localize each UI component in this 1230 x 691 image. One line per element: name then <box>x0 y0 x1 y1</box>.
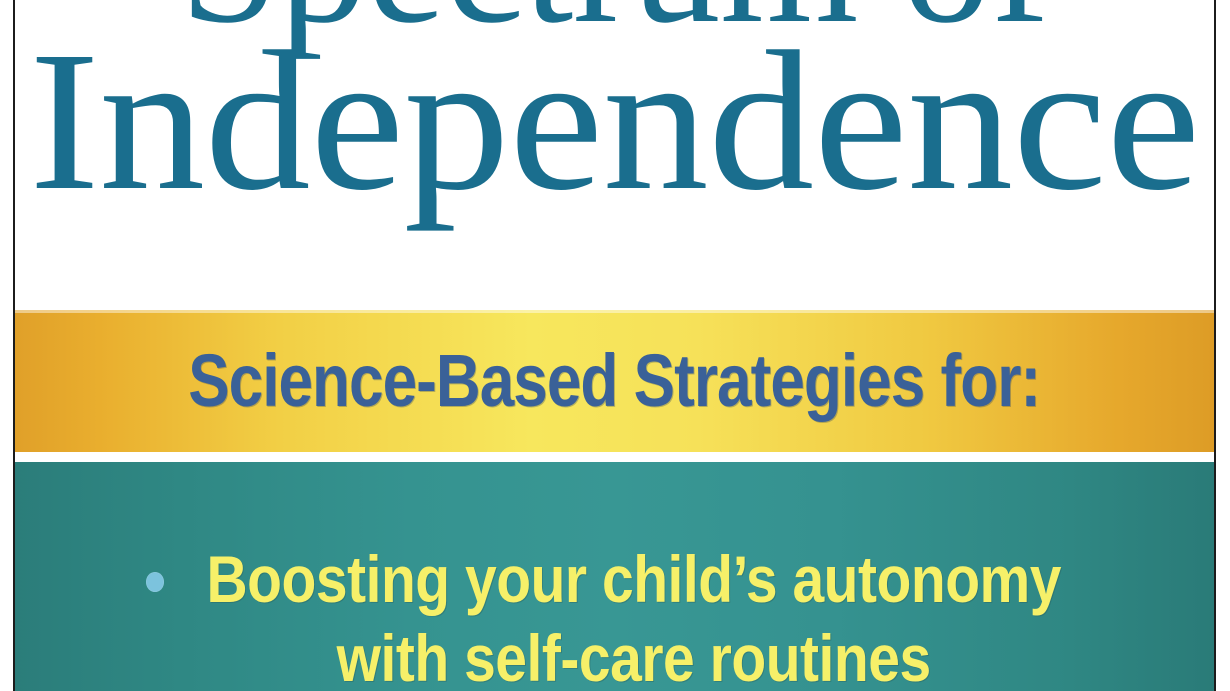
band-divider <box>15 452 1214 462</box>
subtitle-text: Science-Based Strategies for: <box>189 343 1041 417</box>
cover-title-line-2: Independence <box>15 22 1214 222</box>
bullet-dot-icon <box>146 572 164 592</box>
subtitle-band-highlight <box>15 310 1214 313</box>
list-item: Boosting your child’s autonomy with self… <box>146 546 1083 691</box>
bullets-band: Boosting your child’s autonomy with self… <box>15 462 1214 691</box>
page-margin-left <box>0 0 13 691</box>
bullet-item-line-1: Boosting your child’s autonomy <box>206 543 1061 617</box>
bullet-item-line-2: with self-care routines <box>336 622 930 691</box>
bullet-item-text: Boosting your child’s autonomy with self… <box>184 546 1083 691</box>
title-zone: Spectrum of Independence <box>15 0 1214 310</box>
bullet-list: Boosting your child’s autonomy with self… <box>15 546 1214 691</box>
cover-border-right <box>1214 0 1216 691</box>
cover-border-left <box>13 0 15 691</box>
subtitle-band: Science-Based Strategies for: <box>15 310 1214 452</box>
page-margin-right <box>1216 0 1230 691</box>
book-cover: Spectrum of Independence Science-Based S… <box>0 0 1230 691</box>
